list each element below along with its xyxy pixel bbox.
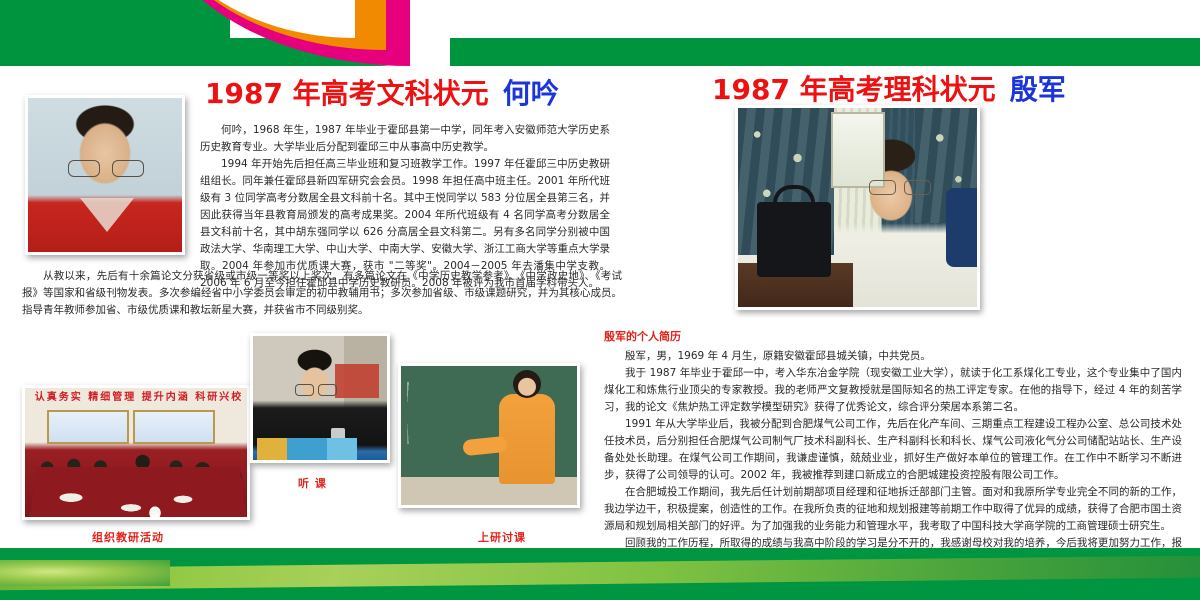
caption-teach: 上研讨课 [478, 529, 526, 545]
right-page-title: 1987 年高考理科状元殷军 [712, 68, 1066, 108]
wall-chart-right [133, 410, 215, 444]
briefcase-detail [757, 202, 831, 278]
glasses-detail [68, 160, 144, 175]
papers-detail [35, 484, 235, 518]
left-title-main: 1987 年高考文科状元 [205, 77, 489, 110]
caption-listen: 听 课 [298, 475, 327, 491]
top-green-banner [0, 0, 1200, 66]
right-bio-paragraph: 殷军，男，1969 年 4 月生，原籍安徽霍邱县城关镇，中共党员。 [604, 348, 1182, 365]
teaching-research-meeting-photo: 认真务实 精细管理 提升内涵 科研兴校 [22, 385, 250, 520]
right-bio-block: 殷军，男，1969 年 4 月生，原籍安徽霍邱县城关镇，中共党员。 我于 198… [604, 348, 1182, 569]
right-title-name: 殷军 [1010, 73, 1066, 106]
window-detail [831, 112, 885, 188]
glasses-detail [869, 180, 931, 193]
meeting-wall-banner: 认真务实 精细管理 提升内涵 科研兴校 [31, 391, 247, 405]
chair-detail [946, 188, 977, 268]
wall-chart-left [47, 410, 129, 444]
left-bio-paragraph: 从教以来，先后有十余篇论文分获省级或市级一等奖以上奖次。有多篇论文在《中学历史教… [22, 268, 622, 319]
right-title-main: 1987 年高考理科状元 [712, 73, 996, 106]
footer-light-stripe [0, 556, 1200, 591]
right-bio-paragraph: 1991 年从大学毕业后，我被分配到合肥煤气公司工作，先后在化产车间、三期重点工… [604, 416, 1182, 484]
right-bio-paragraph: 在合肥城投工作期间，我先后任计划前期部项目经理和征地拆迁部部门主管。面对和我原所… [604, 484, 1182, 535]
bottom-green-footer [0, 548, 1200, 600]
right-bio-paragraph: 我于 1987 年毕业于霍邱一中，考入华东冶金学院（现安徽工业大学），就读于化工… [604, 365, 1182, 416]
book-detail [257, 438, 357, 460]
classroom-observation-photo [250, 333, 390, 463]
left-bio-paragraph: 何吟，1968 年生，1987 年毕业于霍邱县第一中学，同年考入安徽师范大学历史… [200, 122, 610, 156]
blackboard-writing-detail [407, 382, 507, 444]
caption-meeting: 组织教研活动 [92, 529, 164, 545]
collar-detail [80, 198, 134, 232]
footer-leaf-accent [0, 560, 170, 586]
portrait-photo-yin-jun [735, 105, 980, 310]
portrait-photo-he-yin [25, 95, 185, 255]
left-bio-block-2: 从教以来，先后有十余篇论文分获省级或市级一等奖以上奖次。有多篇论文在《中学历史教… [22, 268, 622, 319]
wall-poster-detail [335, 364, 379, 398]
right-section-heading: 殷军的个人简历 [604, 328, 681, 344]
left-title-name: 何吟 [503, 77, 559, 110]
left-bio-block-1: 何吟，1968 年生，1987 年毕业于霍邱县第一中学，同年考入安徽师范大学历史… [200, 122, 610, 292]
glasses-detail [295, 384, 337, 394]
teacher-figure-detail [499, 394, 555, 484]
seminar-lesson-photo [398, 363, 580, 508]
left-page-title: 1987 年高考文科状元何吟 [205, 72, 559, 112]
poster-canvas: 1987 年高考文科状元何吟 何吟，1968 年生，1987 年毕业于霍邱县第一… [0, 0, 1200, 600]
